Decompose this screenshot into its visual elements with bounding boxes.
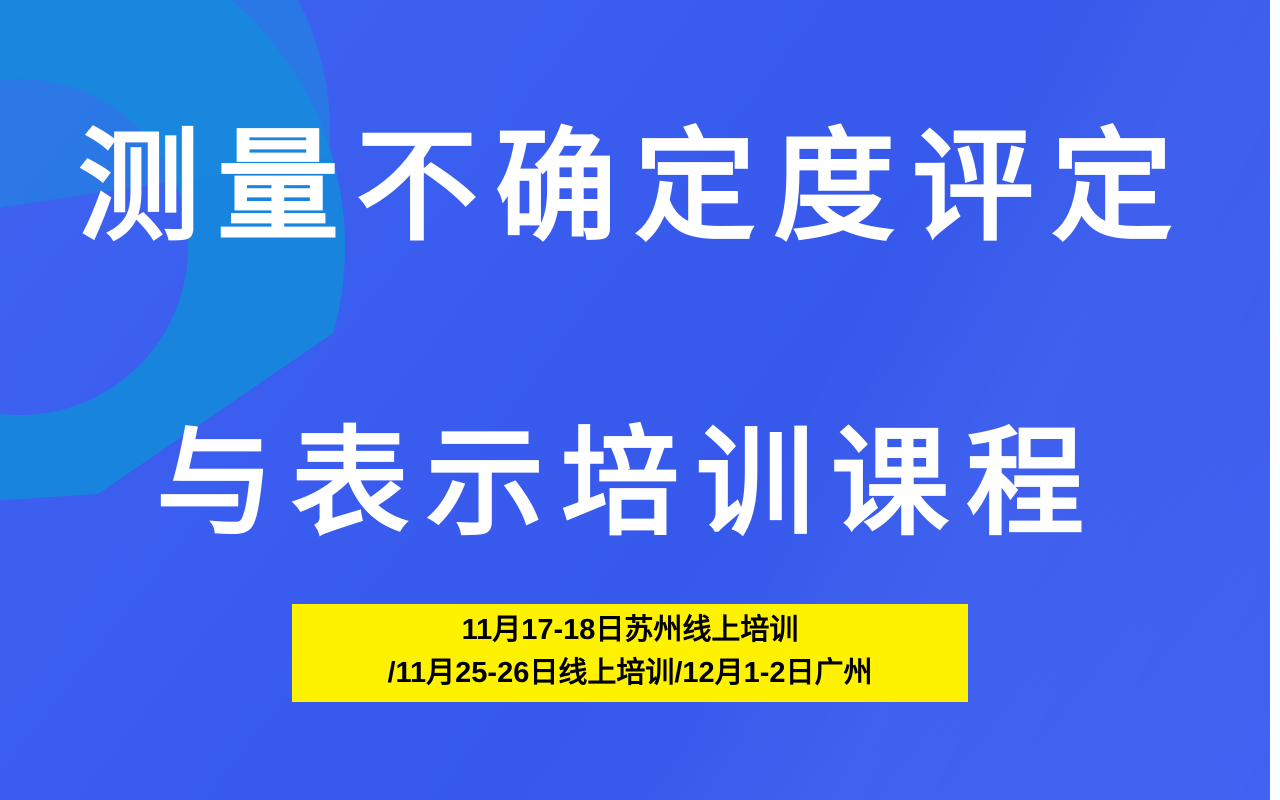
date-line-1: 11月17-18日苏州线上培训 (462, 609, 799, 652)
date-plate: 11月17-18日苏州线上培训 /11月25-26日线上培训/12月1-2日广州 (292, 604, 968, 702)
date-line-2: /11月25-26日线上培训/12月1-2日广州 (387, 652, 872, 695)
right-edge-strip (1270, 0, 1280, 800)
title-line-1: 测量不确定度评定 (78, 126, 1190, 248)
banner-background: 测量不确定度评定 与表示培训课程 11月17-18日苏州线上培训 /11月25-… (0, 0, 1270, 800)
course-banner: 测量不确定度评定 与表示培训课程 11月17-18日苏州线上培训 /11月25-… (0, 0, 1280, 800)
title-line-2: 与表示培训课程 (156, 425, 1101, 543)
